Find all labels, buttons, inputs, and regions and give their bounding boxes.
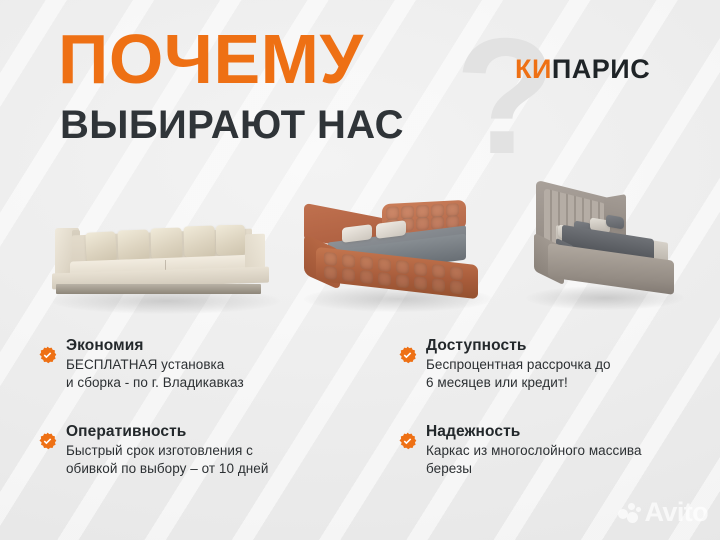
avito-wordmark: Avito [645,499,709,526]
benefit-title: Экономия [66,336,376,355]
benefit-title: Доступность [426,336,706,355]
sofa-plinth [56,284,261,294]
avito-watermark: Avito [618,499,709,526]
benefit-item-ekonomiya: Экономия БЕСПЛАТНАЯ установка и сборка -… [0,336,390,422]
product-image-taupe-bed [520,182,680,314]
sofa-cushion [216,225,246,256]
benefit-item-dostupnost: Доступность Беспроцентная рассрочка до 6… [390,336,720,422]
brand-logo-dark: ПАРИС [552,54,650,84]
promo-poster: ? ПОЧЕМУ ВЫБИРАЮТ НАС КИПАРИС [0,0,720,540]
check-badge-icon [398,432,417,451]
sofa-cushion [85,231,117,263]
product-image-modular-sofa [46,192,276,310]
page-subtitle: ВЫБИРАЮТ НАС [60,105,404,145]
avito-dots-icon [618,503,642,523]
question-mark-watermark: ? [455,14,556,179]
product-showcase [0,186,720,326]
check-badge-icon [38,346,57,365]
check-badge-icon [38,432,57,451]
benefits-grid: Экономия БЕСПЛАТНАЯ установка и сборка -… [0,336,720,508]
benefit-text: БЕСПЛАТНАЯ установка и сборка - по г. Вл… [66,356,376,392]
sofa-cushion [183,225,215,257]
page-title: ПОЧЕМУ [58,26,404,93]
product-image-terracotta-bed [300,186,490,312]
headline-block: ПОЧЕМУ ВЫБИРАЮТ НАС [58,26,404,145]
benefit-title: Надежность [426,422,706,441]
benefit-title: Оперативность [66,422,376,441]
benefit-item-operativnost: Оперативность Быстрый срок изготовления … [0,422,390,508]
check-badge-icon [398,346,417,365]
benefit-text: Беспроцентная рассрочка до 6 месяцев или… [426,356,706,392]
benefit-item-nadezhnost: Надежность Каркас из многослойного масси… [390,422,720,508]
brand-logo-accent: КИ [515,54,552,84]
sofa-cushion [150,227,182,259]
brand-logo[interactable]: КИПАРИС [515,54,650,85]
benefit-text: Каркас из многослойного массива березы [426,442,706,478]
sofa-cushion [117,229,149,261]
benefit-text: Быстрый срок изготовления с обивкой по в… [66,442,376,478]
